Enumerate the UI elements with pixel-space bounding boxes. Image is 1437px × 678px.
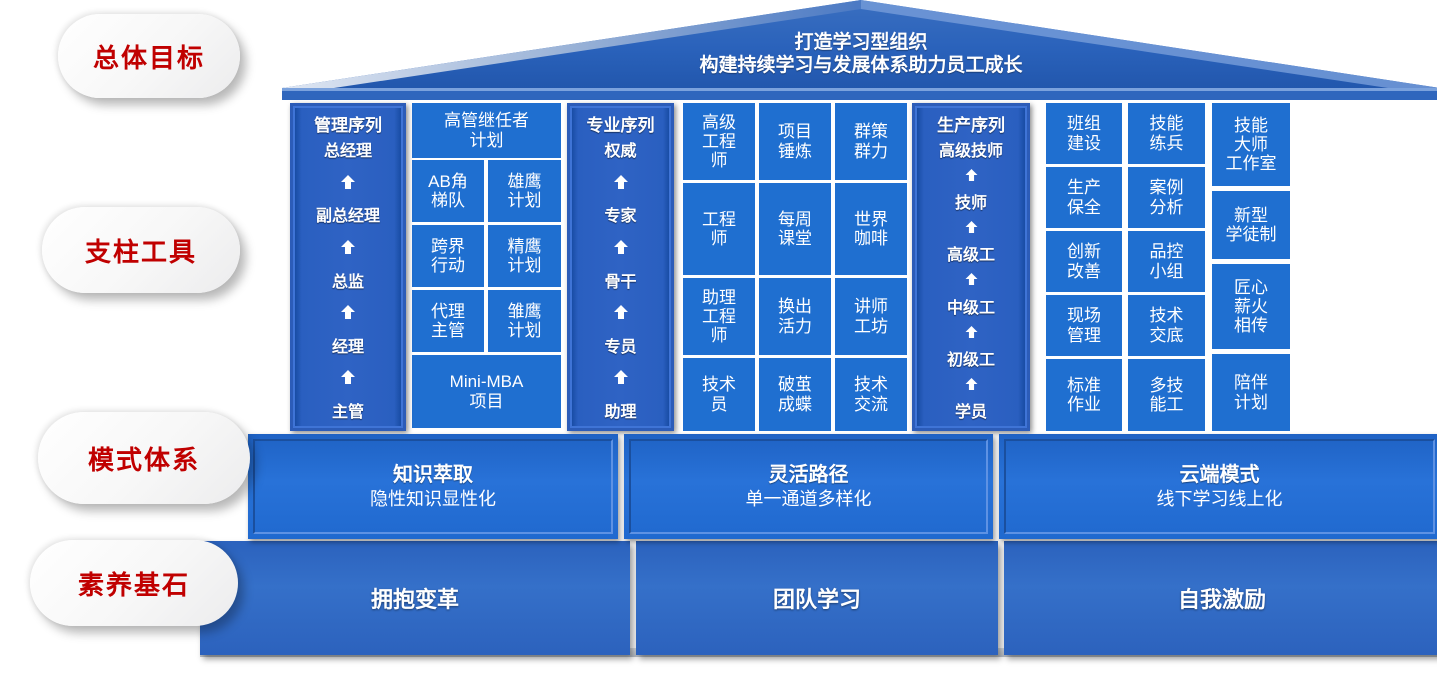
mode-box-title: 知识萃取 [393, 463, 473, 488]
tool-cell[interactable]: 技能练兵 [1128, 103, 1205, 164]
ladder-rung: 总经理 [324, 137, 372, 161]
tool-cell[interactable]: 破茧成蝶 [759, 358, 831, 431]
tool-cell[interactable]: 精鹰计划 [488, 225, 561, 287]
tool-cell[interactable]: 标准作业 [1046, 359, 1122, 431]
ladder-rung: 副总经理 [316, 202, 380, 226]
roof-title: 打造学习型组织 构建持续学习与发展体系助力员工成长 [282, 24, 1437, 84]
category-pill-pillar-tools[interactable]: 支柱工具 [42, 207, 240, 293]
ladder-rung: 初级工 [947, 346, 995, 370]
category-pill-foundation[interactable]: 素养基石 [30, 540, 238, 626]
ladder-rung: 骨干 [604, 268, 636, 292]
foundation-box-team-learning[interactable]: 团队学习 [636, 541, 998, 655]
arrow-up-icon [340, 240, 356, 254]
tool-cell[interactable]: 高级工程师 [683, 103, 755, 180]
arrow-up-icon [613, 370, 629, 384]
mode-box-subtitle: 单一通道多样化 [746, 488, 872, 511]
arrow-up-icon [340, 370, 356, 384]
tool-cell[interactable]: 雏鹰计划 [488, 290, 561, 352]
roof-title-line1: 打造学习型组织 [794, 31, 927, 54]
tool-cell[interactable]: 每周课堂 [759, 183, 831, 275]
tool-cell[interactable]: 世界咖啡 [835, 183, 907, 275]
sequence-professional[interactable]: 专业序列 权威 专家 骨干 专员 助理 [567, 103, 674, 431]
tool-cell[interactable]: 跨界行动 [412, 225, 484, 287]
tool-cell[interactable]: 生产保全 [1046, 167, 1122, 228]
tool-cell[interactable]: 技术员 [683, 358, 755, 431]
tool-cell[interactable]: 匠心薪火相传 [1212, 264, 1290, 349]
ladder-rung: 学员 [955, 398, 987, 422]
ladder-rung: 总监 [332, 268, 364, 292]
mode-box-knowledge-extraction[interactable]: 知识萃取 隐性知识显性化 [248, 434, 618, 539]
tool-cell[interactable]: 现场管理 [1046, 295, 1122, 356]
ladder-rung: 高级技师 [939, 137, 1003, 161]
arrow-up-icon [964, 221, 979, 233]
foundation-box-self-motivation[interactable]: 自我激励 [1004, 541, 1437, 655]
tool-cell[interactable]: 讲师工坊 [835, 278, 907, 355]
arrow-up-icon [613, 240, 629, 254]
tool-cell[interactable]: 新型学徒制 [1212, 191, 1290, 259]
tool-cell[interactable]: 案例分析 [1128, 167, 1205, 228]
foundation-box-embrace-change[interactable]: 拥抱变革 [200, 541, 630, 655]
mode-box-flexible-path[interactable]: 灵活路径 单一通道多样化 [624, 434, 993, 539]
tool-cell[interactable]: 雄鹰计划 [488, 160, 561, 222]
tool-cell[interactable]: 工程师 [683, 183, 755, 275]
category-pill-label: 支柱工具 [85, 232, 197, 269]
tool-cell[interactable]: Mini-MBA项目 [412, 355, 561, 428]
category-pill-mode-system[interactable]: 模式体系 [38, 412, 250, 504]
sequence-ladder: 总经理 副总经理 总监 经理 主管 [295, 137, 401, 423]
sequence-title: 专业序列 [587, 111, 655, 136]
mode-box-inner: 云端模式 线下学习线上化 [1004, 439, 1435, 534]
tool-cell[interactable]: 创新改善 [1046, 231, 1122, 292]
sequence-management[interactable]: 管理序列 总经理 副总经理 总监 经理 主管 [290, 103, 406, 431]
tool-cell[interactable]: 助理工程师 [683, 278, 755, 355]
category-pill-label: 素养基石 [78, 565, 190, 602]
arrow-up-icon [340, 305, 356, 319]
mode-box-cloud-mode[interactable]: 云端模式 线下学习线上化 [999, 434, 1437, 539]
tool-cell[interactable]: 多技能工 [1128, 359, 1205, 431]
pillar-tools-grid: 管理序列 总经理 副总经理 总监 经理 主管 高管继任者计划 AB角梯队 雄鹰计… [282, 100, 1437, 432]
ladder-rung: 专家 [604, 202, 636, 226]
tool-cell[interactable]: 技能大师工作室 [1212, 103, 1290, 186]
tool-cell[interactable]: 高管继任者计划 [412, 103, 561, 158]
tool-cell[interactable]: 品控小组 [1128, 231, 1205, 292]
mode-box-subtitle: 线下学习线上化 [1157, 488, 1283, 511]
arrow-up-icon [964, 326, 979, 338]
mode-box-inner: 知识萃取 隐性知识显性化 [253, 439, 613, 534]
tool-cell[interactable]: 群策群力 [835, 103, 907, 180]
tool-cell[interactable]: 技术交底 [1128, 295, 1205, 356]
tool-cell[interactable]: 技术交流 [835, 358, 907, 431]
sequence-ladder: 高级技师 技师 高级工 中级工 初级工 学员 [917, 137, 1025, 423]
ladder-rung: 专员 [604, 333, 636, 357]
roof-title-line2: 构建持续学习与发展体系助力员工成长 [699, 54, 1022, 77]
category-pill-overall-goal[interactable]: 总体目标 [58, 14, 240, 98]
ladder-rung: 主管 [332, 398, 364, 422]
mode-box-title: 云端模式 [1180, 463, 1260, 488]
sequence-ladder: 权威 专家 骨干 专员 助理 [572, 137, 669, 423]
tool-cell[interactable]: 陪伴计划 [1212, 354, 1290, 431]
sequence-title: 管理序列 [314, 111, 382, 136]
tool-cell[interactable]: 项目锤炼 [759, 103, 831, 180]
tool-cell[interactable]: AB角梯队 [412, 160, 484, 222]
ladder-rung: 中级工 [947, 294, 995, 318]
arrow-up-icon [964, 273, 979, 285]
arrow-up-icon [613, 175, 629, 189]
tool-cell[interactable]: 代理主管 [412, 290, 484, 352]
category-pill-label: 总体目标 [93, 38, 205, 75]
tool-cell[interactable]: 换出活力 [759, 278, 831, 355]
arrow-up-icon [340, 175, 356, 189]
ladder-rung: 技师 [955, 189, 987, 213]
mode-box-inner: 灵活路径 单一通道多样化 [629, 439, 988, 534]
mode-system-band: 知识萃取 隐性知识显性化 灵活路径 单一通道多样化 云端模式 线下学习线上化 [248, 434, 1437, 539]
arrow-up-icon [613, 305, 629, 319]
sequence-production[interactable]: 生产序列 高级技师 技师 高级工 中级工 初级工 学员 [912, 103, 1030, 431]
ladder-rung: 助理 [604, 398, 636, 422]
sequence-title: 生产序列 [937, 111, 1005, 136]
arrow-up-icon [964, 378, 979, 390]
tool-cell[interactable]: 班组建设 [1046, 103, 1122, 164]
ladder-rung: 高级工 [947, 241, 995, 265]
category-pill-label: 模式体系 [88, 440, 200, 477]
ladder-rung: 权威 [604, 137, 636, 161]
ladder-rung: 经理 [332, 333, 364, 357]
mode-box-subtitle: 隐性知识显性化 [370, 488, 496, 511]
arrow-up-icon [964, 169, 979, 181]
mode-box-title: 灵活路径 [769, 463, 849, 488]
foundation-band: 拥抱变革 团队学习 自我激励 [200, 541, 1437, 655]
